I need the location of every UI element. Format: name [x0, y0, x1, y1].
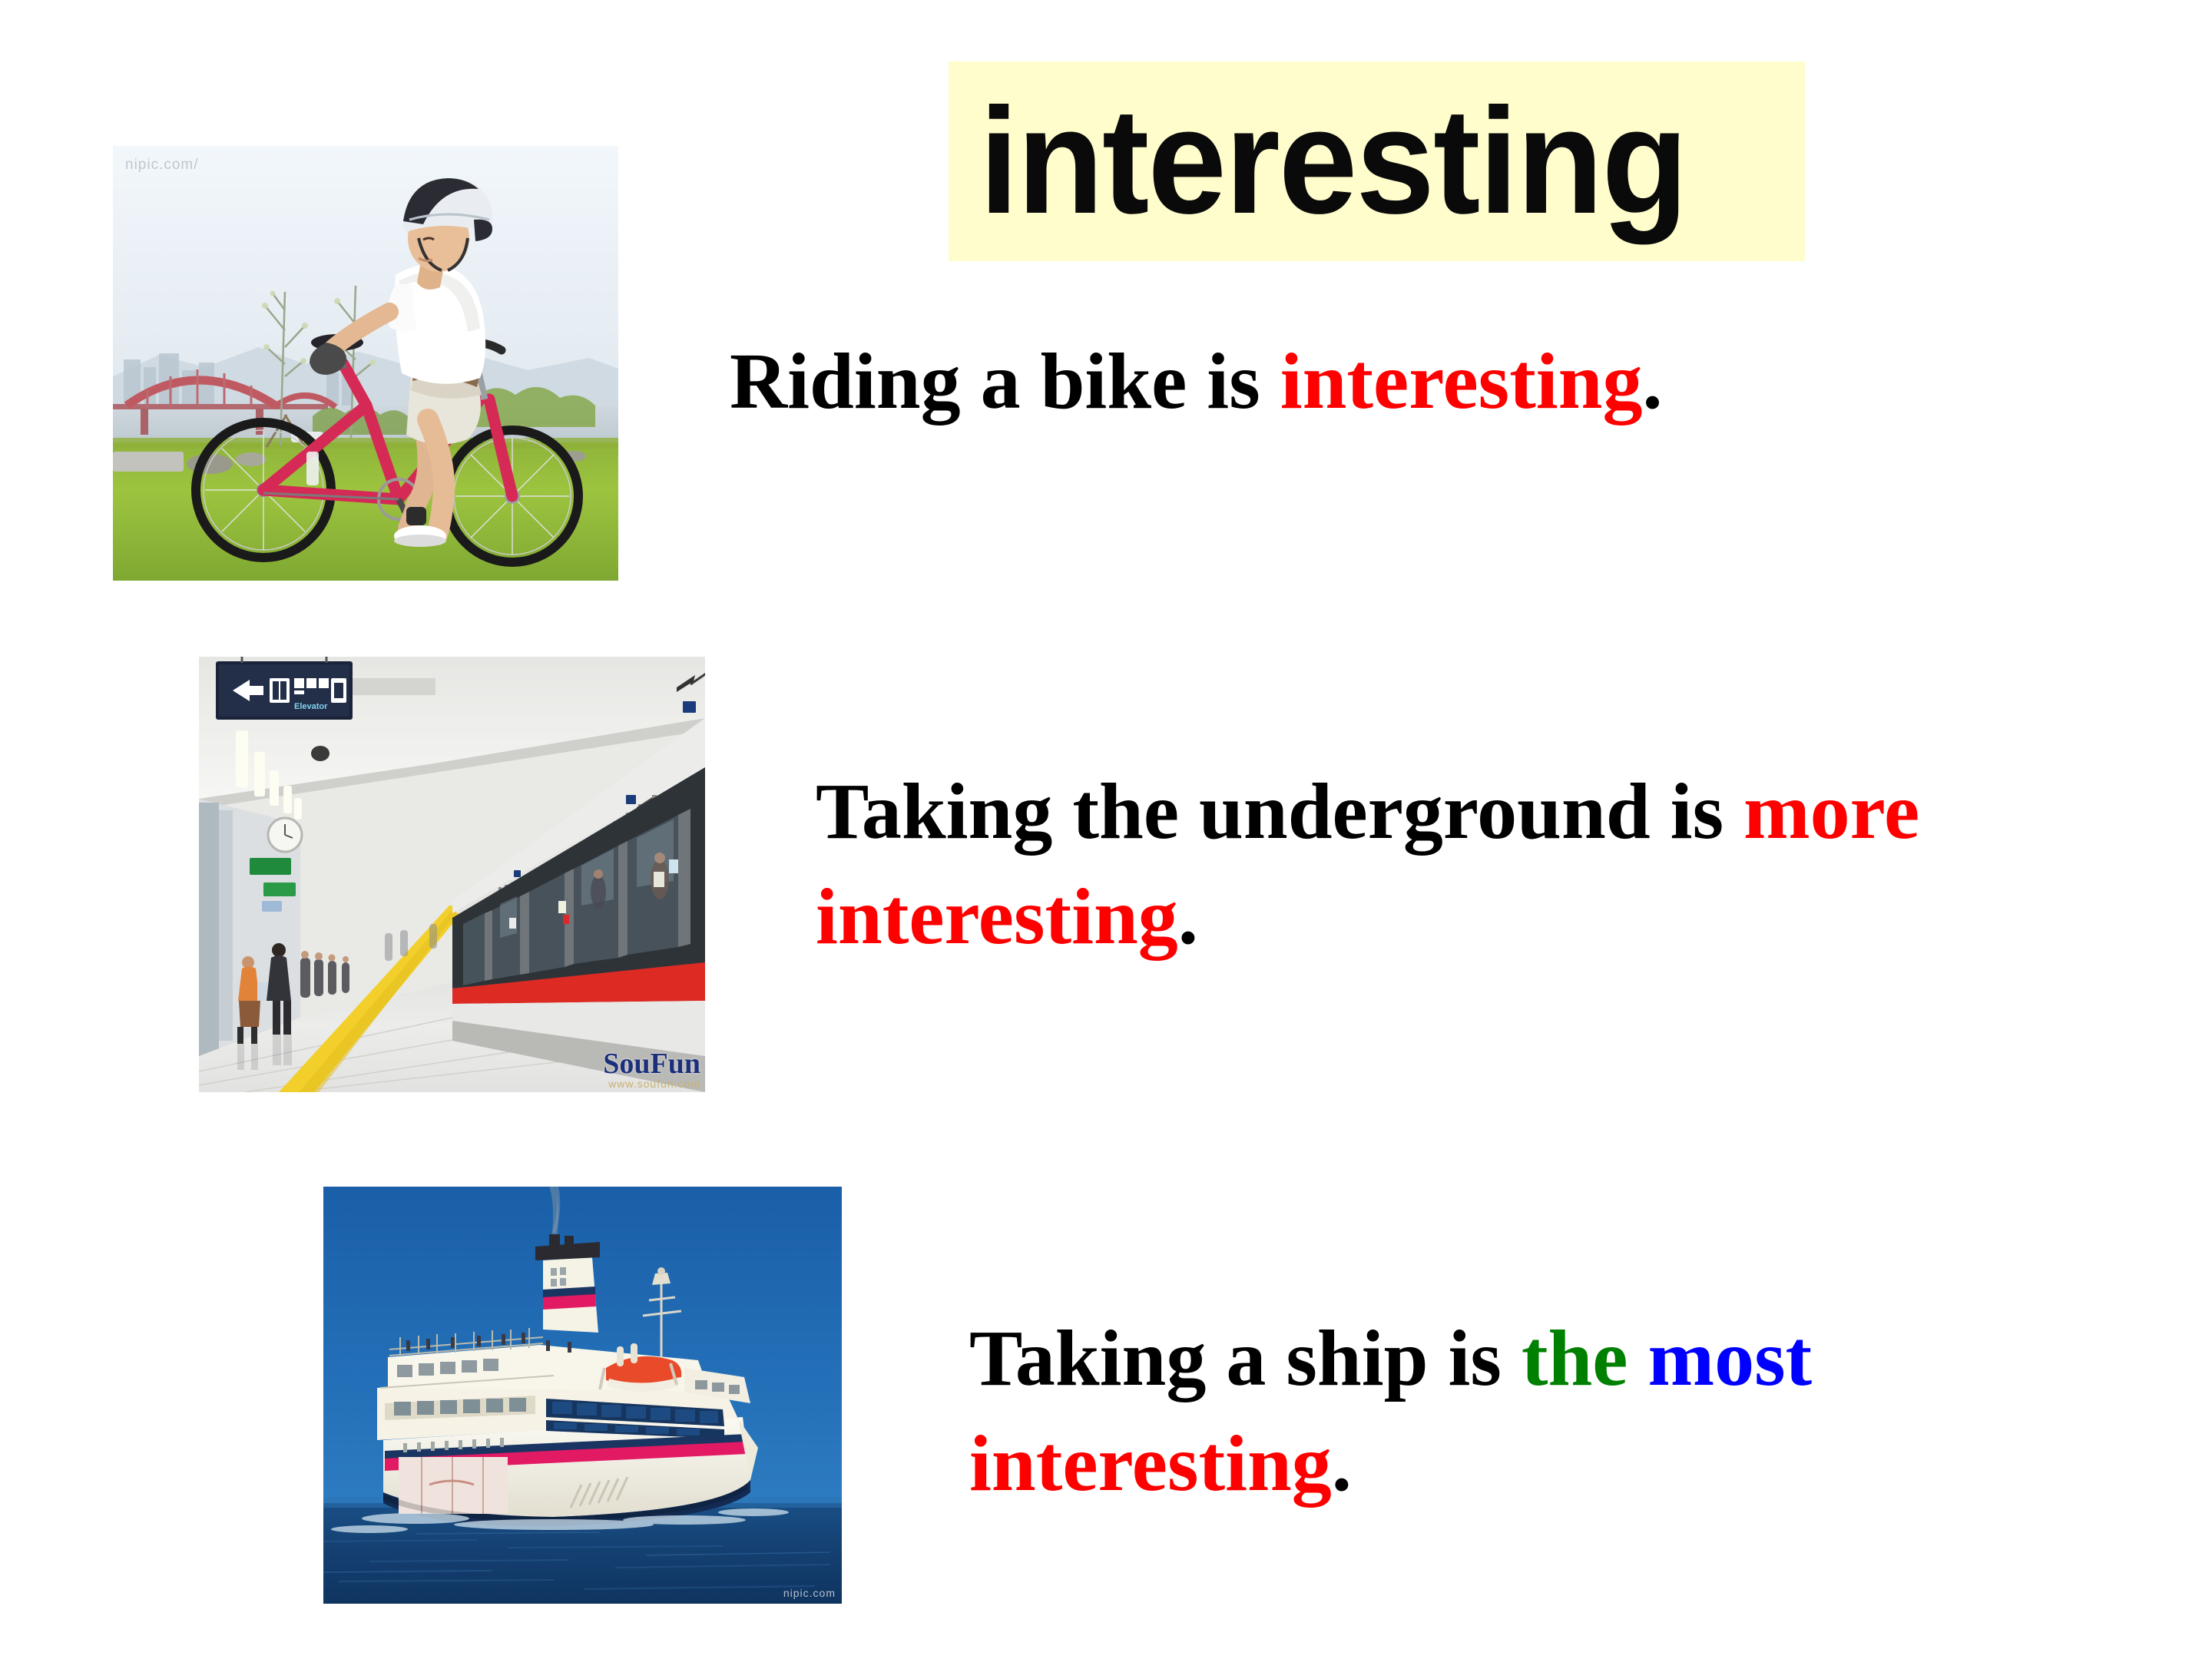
underground-platform-photo: Elevator [199, 657, 705, 1092]
sentence-positive: Riding a bike is interesting. [730, 329, 1663, 434]
sentence-positive-highlight: interesting [1280, 337, 1643, 426]
underground-platform-graphic: Elevator [199, 657, 705, 1092]
sentence-superlative-article: the [1522, 1314, 1648, 1402]
sentence-superlative-most: most [1647, 1314, 1812, 1402]
bicycle-photo-graphic [113, 146, 618, 581]
sentence-comparative: Taking the underground is more interesti… [816, 759, 1952, 970]
sentence-comparative-part-a: Taking the underground is [816, 767, 1743, 856]
sentence-superlative: Taking a ship is the most interesting. [969, 1306, 2060, 1517]
sentence-positive-period: . [1643, 337, 1663, 426]
title-highlight-box: interesting [949, 61, 1805, 261]
svg-text:Elevator: Elevator [294, 702, 328, 711]
sentence-positive-part-a: Riding a bike is [730, 337, 1280, 426]
bicycle-photo: nipic.com/ [113, 146, 618, 581]
cruise-ship-photo: nipic.com [323, 1187, 842, 1604]
page-title: interesting [979, 86, 1687, 237]
sentence-superlative-highlight: interesting [969, 1419, 1332, 1508]
sentence-superlative-part-a: Taking a ship is [969, 1314, 1522, 1402]
cruise-ship-graphic [323, 1187, 842, 1604]
sentence-superlative-period: . [1332, 1419, 1352, 1508]
sentence-comparative-period: . [1178, 873, 1198, 961]
